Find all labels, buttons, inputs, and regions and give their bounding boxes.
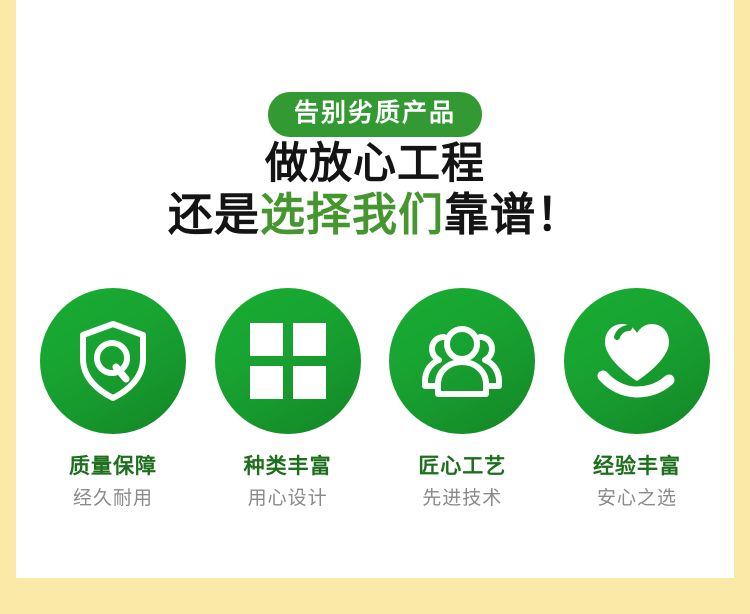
badge-row: 告别劣质产品 (16, 92, 734, 137)
feature-subtitle: 安心之选 (597, 489, 677, 510)
headline-block: 做放心工程 还是选择我们靠谱！ (16, 140, 734, 241)
heart-in-hand-icon (597, 319, 677, 403)
feature-item: 匠心工艺 先进技术 (387, 288, 537, 510)
feature-subtitle: 先进技术 (422, 489, 502, 510)
people-group-icon (418, 321, 506, 401)
feature-item: 经验丰富 安心之选 (562, 288, 712, 510)
feature-title: 质量保障 (69, 455, 157, 478)
feature-icon-circle (389, 288, 535, 434)
feature-icon-circle (564, 288, 710, 434)
feature-item: 质量保障 经久耐用 (38, 288, 188, 510)
feature-title: 种类丰富 (244, 455, 332, 478)
headline-line-2-suffix: 靠谱！ (444, 189, 582, 240)
feature-icon-circle (40, 288, 186, 434)
promo-banner: 告别劣质产品 做放心工程 还是选择我们靠谱！ 质量保障 经久耐 (0, 0, 750, 614)
feature-title: 匠心工艺 (418, 455, 506, 478)
content-canvas: 告别劣质产品 做放心工程 还是选择我们靠谱！ 质量保障 经久耐 (16, 0, 734, 578)
feature-icon-circle (215, 288, 361, 434)
feature-item: 种类丰富 用心设计 (213, 288, 363, 510)
feature-subtitle: 用心设计 (248, 489, 328, 510)
feature-title: 经验丰富 (593, 455, 681, 478)
grid-squares-icon (250, 323, 326, 399)
headline-line-2-highlight: 选择我们 (260, 189, 444, 240)
headline-line-1: 做放心工程 (16, 140, 734, 188)
headline-line-2-prefix: 还是 (168, 189, 260, 240)
feature-subtitle: 经久耐用 (73, 489, 153, 510)
shield-q-icon (75, 319, 151, 403)
tagline-badge: 告别劣质产品 (268, 92, 482, 137)
headline-line-2: 还是选择我们靠谱！ (16, 190, 734, 240)
feature-list: 质量保障 经久耐用 种类丰富 用心设计 (16, 288, 734, 510)
